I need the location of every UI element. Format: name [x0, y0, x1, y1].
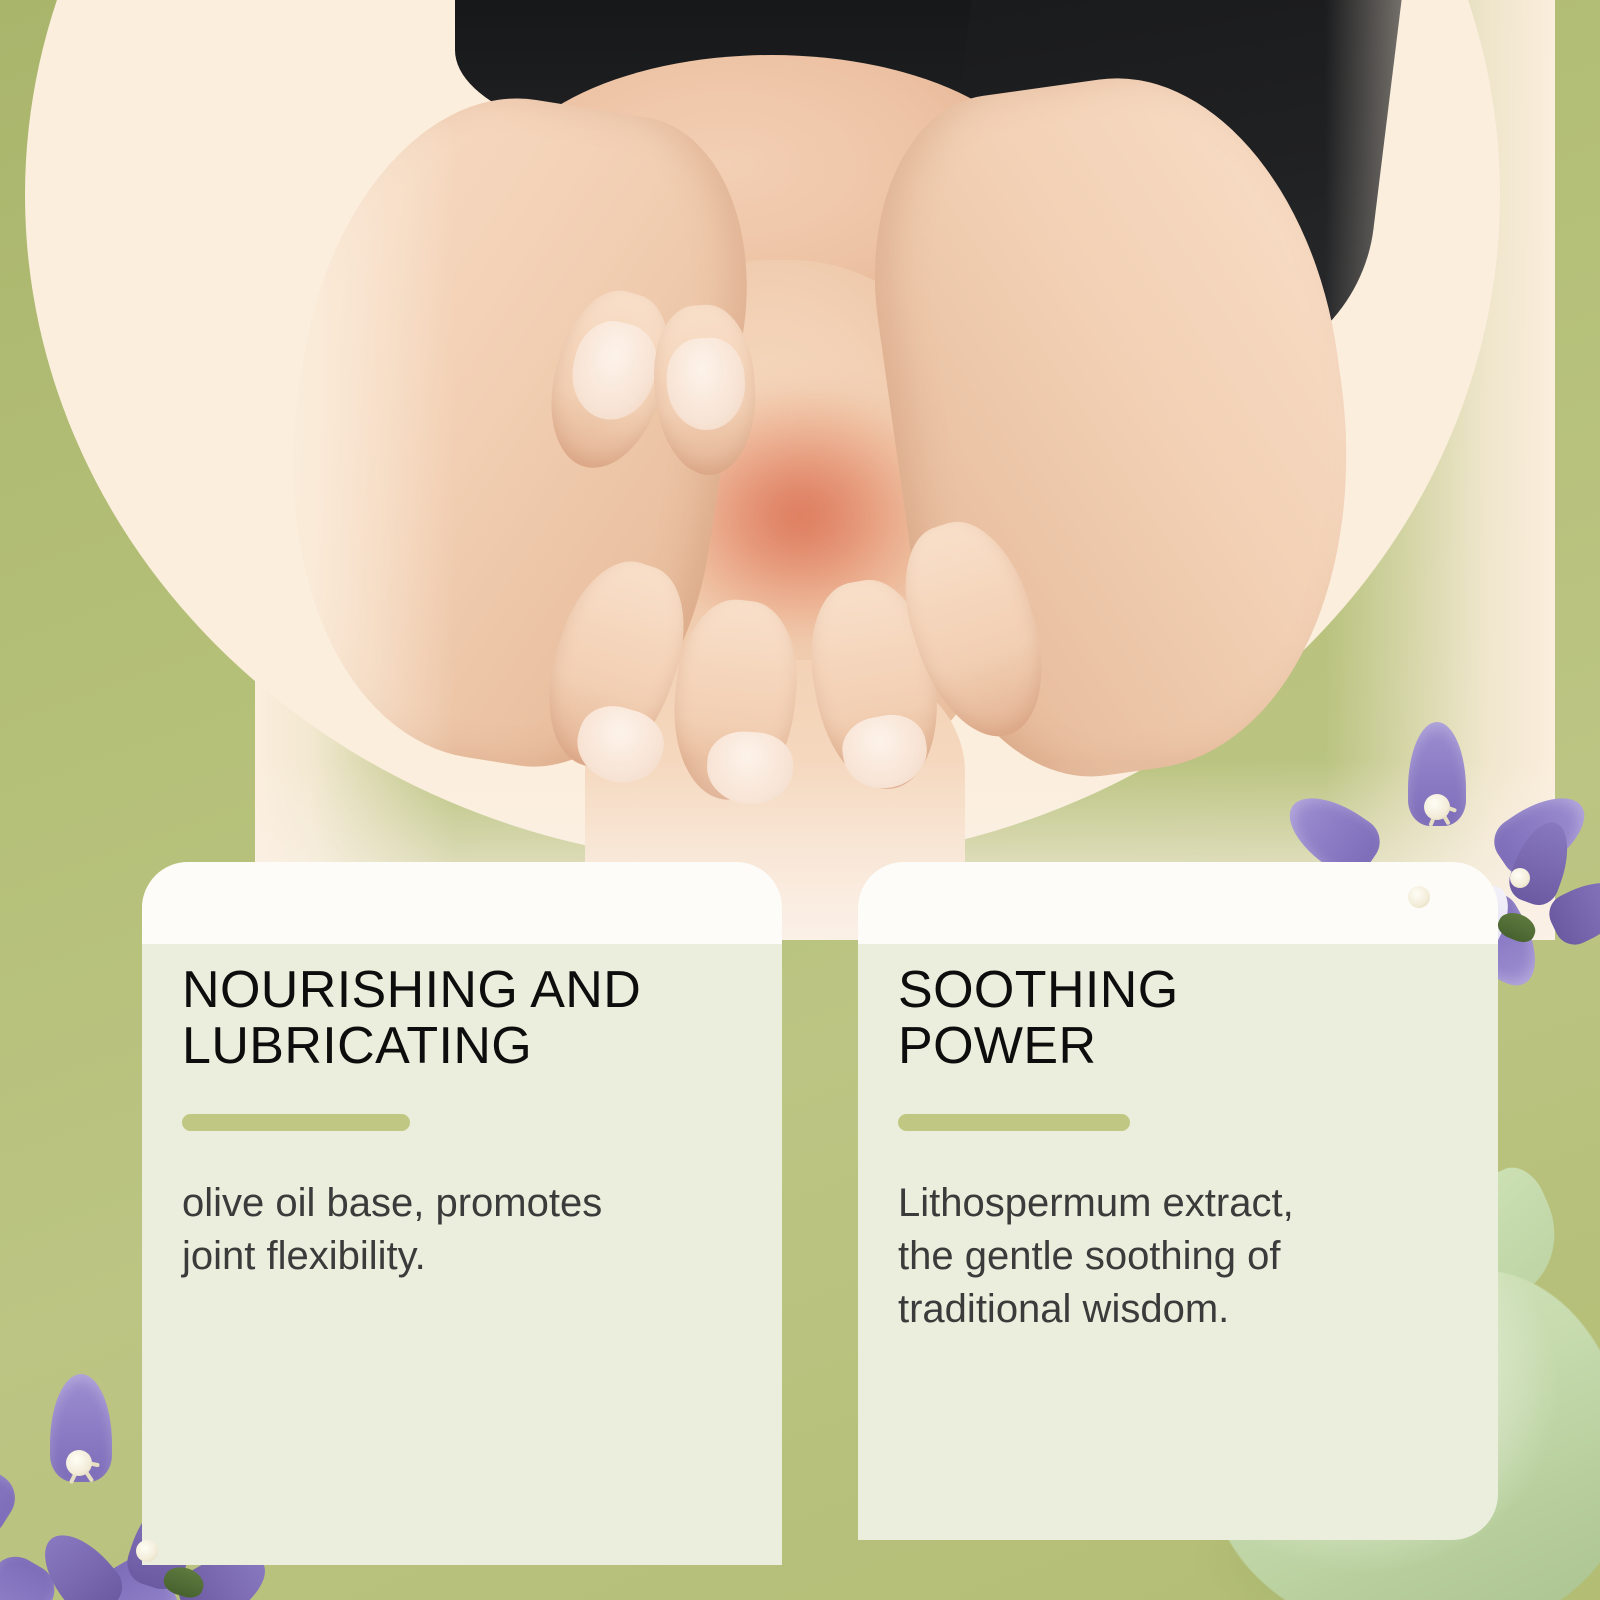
poster-canvas: NOURISHING AND LUBRICATING olive oil bas…	[0, 0, 1600, 1600]
card-title: NOURISHING AND LUBRICATING	[182, 962, 782, 1074]
hero-photo	[255, 0, 1555, 940]
accent-pill	[182, 1114, 410, 1131]
accent-pill	[898, 1114, 1130, 1131]
card-description: Lithospermum extract, the gentle soothin…	[898, 1177, 1418, 1335]
feature-card-nourishing[interactable]: NOURISHING AND LUBRICATING olive oil bas…	[142, 862, 782, 1565]
card-content: NOURISHING AND LUBRICATING olive oil bas…	[142, 862, 782, 1283]
hero-photo-art	[255, 0, 1555, 940]
card-title: SOOTHING POWER	[898, 962, 1498, 1074]
card-content: SOOTHING POWER Lithospermum extract, the…	[858, 862, 1498, 1336]
feature-card-soothing[interactable]: SOOTHING POWER Lithospermum extract, the…	[858, 862, 1498, 1540]
card-description: olive oil base, promotes joint flexibili…	[182, 1177, 702, 1283]
